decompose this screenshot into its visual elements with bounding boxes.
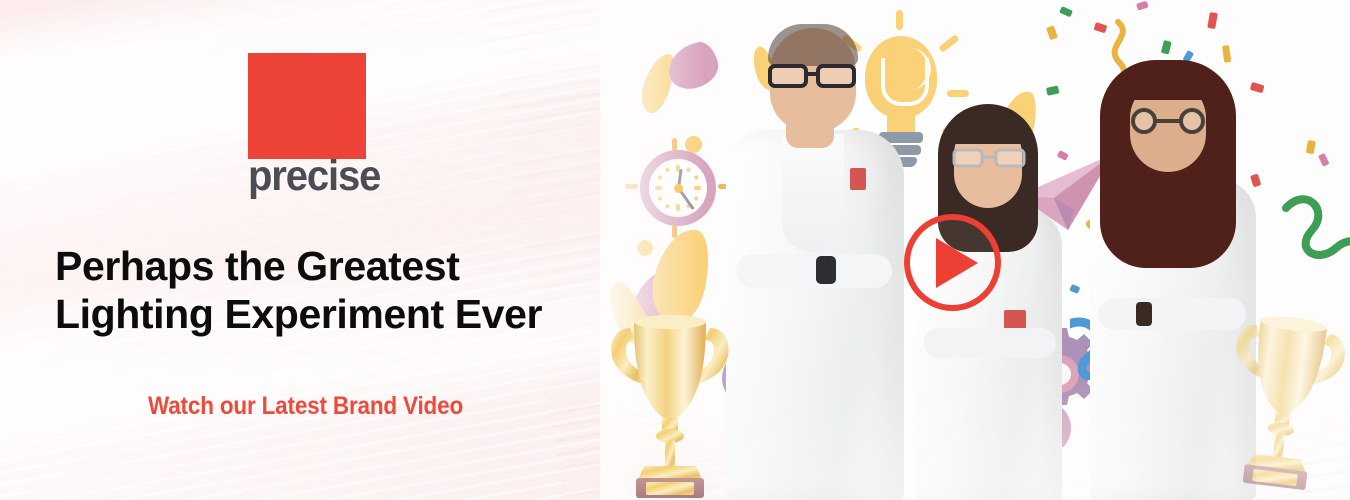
play-video-button[interactable]: [904, 214, 1001, 311]
play-triangle-icon: [936, 238, 978, 288]
trophy-icon-right: [1208, 289, 1350, 500]
dot-yellow-2: [637, 240, 653, 256]
scientist-left: [710, 18, 910, 500]
brand-video-banner: precise Perhaps the Greatest Lighting Ex…: [0, 0, 1350, 500]
scientist-center-fringe: [948, 110, 1028, 144]
scientist-left-glasses: [768, 64, 860, 88]
scientist-right-bracelet: [1136, 302, 1152, 326]
trophy-icon-left: [600, 300, 740, 500]
scientist-right-arms: [1098, 298, 1246, 330]
scientist-left-lapel: [782, 134, 844, 252]
clock-icon: [640, 150, 716, 226]
scientist-center-arms: [924, 328, 1056, 358]
scientist-left-arms: [736, 254, 892, 288]
scientist-left-hair: [768, 24, 858, 66]
scientist-right-fringe: [1122, 66, 1216, 100]
precise-logo[interactable]: precise: [248, 53, 366, 198]
scientist-left-badge: [850, 168, 866, 190]
page-title: Perhaps the Greatest Lighting Experiment…: [55, 243, 585, 338]
scientist-right-glasses: [1126, 108, 1212, 134]
watch-video-link[interactable]: Watch our Latest Brand Video: [148, 392, 463, 421]
logo-wordmark: precise: [248, 155, 358, 198]
scientist-center-glasses: [952, 148, 1026, 168]
logo-red-square-icon: [248, 53, 366, 159]
scientist-left-watch: [816, 256, 836, 284]
